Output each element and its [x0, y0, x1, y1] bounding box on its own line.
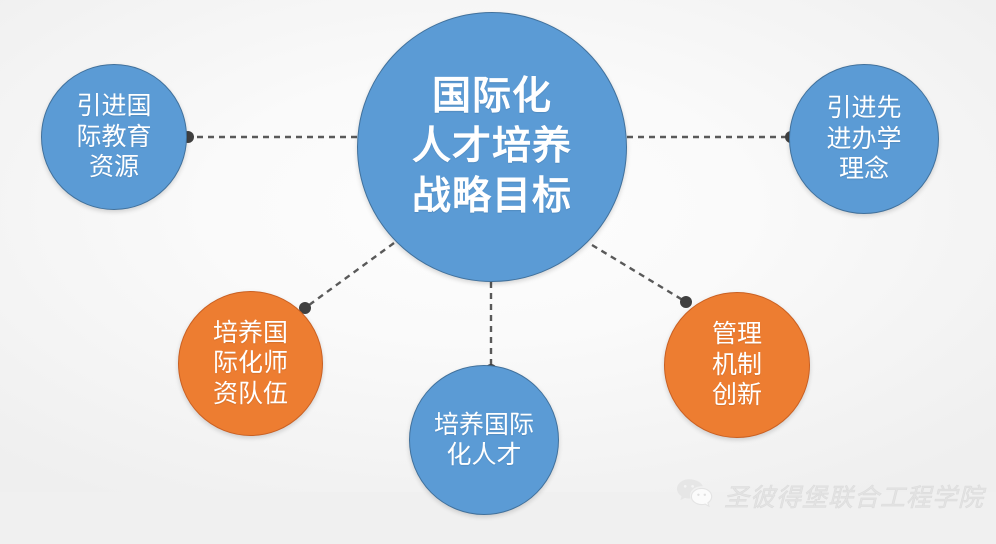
connector-center-to-bottom-right	[592, 245, 686, 302]
node-center[interactable]: 国际化 人才培养 战略目标	[357, 12, 627, 282]
watermark: 圣彼得堡联合工程学院	[676, 477, 984, 514]
node-bottom-center-label: 培养国际 化人才	[434, 410, 534, 471]
node-management-mechanism-innovation[interactable]: 管理 机制 创新	[664, 292, 810, 438]
node-introduce-intl-education-resources[interactable]: 引进国 际教育 资源	[41, 64, 187, 210]
node-cultivate-intl-talent[interactable]: 培养国际 化人才	[409, 365, 559, 515]
watermark-text: 圣彼得堡联合工程学院	[724, 478, 984, 514]
node-center-label: 国际化 人才培养 战略目标	[412, 72, 572, 222]
connector-center-to-bottom-left	[305, 243, 394, 308]
node-bottom-right-label: 管理 机制 创新	[712, 319, 762, 411]
node-bottom-left-label: 培养国 际化师 资队伍	[213, 318, 288, 410]
node-left-label: 引进国 际教育 资源	[76, 91, 151, 183]
node-right-label: 引进先 进办学 理念	[826, 93, 901, 185]
wechat-icon	[676, 477, 714, 514]
diagram-canvas: 国际化 人才培养 战略目标 引进国 际教育 资源 引进先 进办学 理念 培养国 …	[0, 0, 996, 544]
node-introduce-advanced-education-philosophy[interactable]: 引进先 进办学 理念	[789, 64, 939, 214]
node-cultivate-intl-faculty[interactable]: 培养国 际化师 资队伍	[178, 291, 323, 436]
connector-dot-bottom-right	[680, 296, 692, 308]
